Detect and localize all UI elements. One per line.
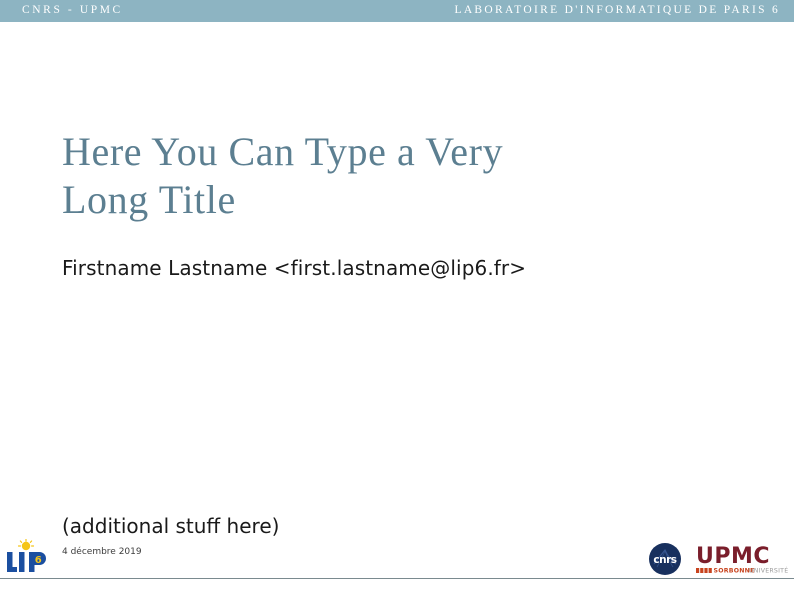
footer-logo-cluster: cnrs UPMC SORBONNE UNIVERSITÉS [648,540,788,578]
upmc-logo: UPMC SORBONNE UNIVERSITÉS [696,542,788,576]
author-line: Firstname Lastname <first.lastname@lip6.… [62,256,526,280]
footer-divider [0,578,794,579]
title-line-2: Long Title [62,177,236,222]
header-institution-label: CNRS - UPMC [22,5,123,17]
lip6-digit: 6 [35,555,42,566]
header-laboratory-label: LABORATOIRE D'INFORMATIQUE DE PARIS 6 [455,5,785,17]
title-line-1: Here You Can Type a Very [62,129,503,174]
upmc-subtitle-universites: UNIVERSITÉS [749,566,788,575]
slide-date: 4 décembre 2019 [62,547,142,557]
additional-note: (additional stuff here) [62,514,279,538]
upmc-wordmark: UPMC [696,544,770,569]
page-title: Here You Can Type a Very Long Title [62,128,722,224]
slide-header-bar: CNRS - UPMC LABORATOIRE D'INFORMATIQUE D… [0,0,794,22]
title-block: Here You Can Type a Very Long Title [62,128,722,224]
cnrs-logo: cnrs [648,542,682,576]
cnrs-wordmark: cnrs [653,554,676,566]
lip6-logo: 6 [4,539,48,579]
lip6-sun-icon [19,539,34,550]
